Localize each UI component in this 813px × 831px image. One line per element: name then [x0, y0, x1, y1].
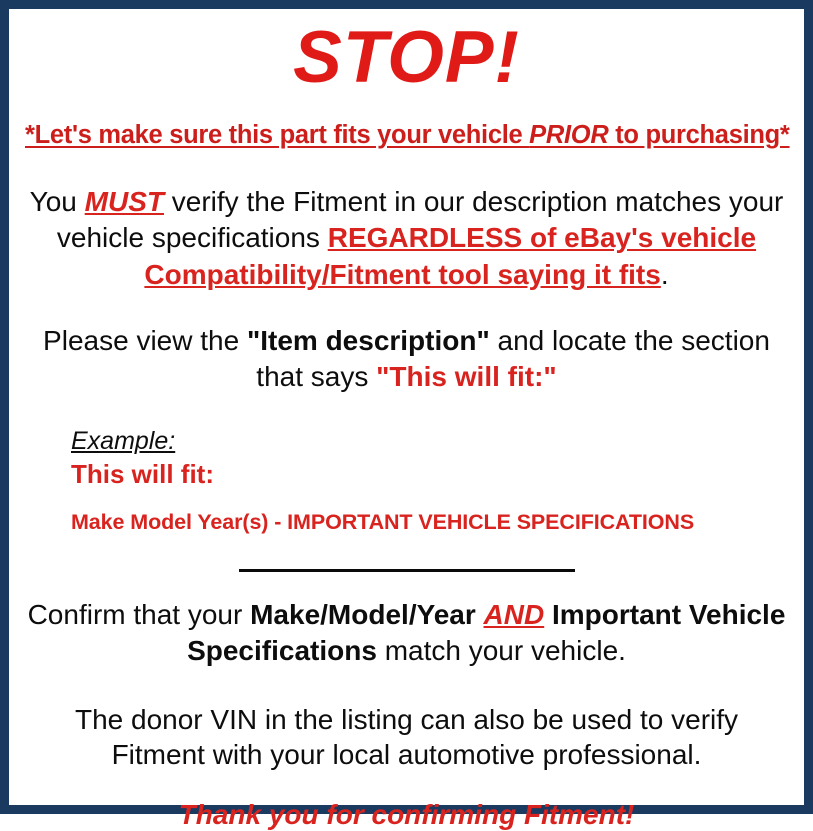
confirm-emphasis-and: AND	[484, 599, 545, 630]
confirm-bold-make-model-year: Make/Model/Year	[250, 599, 476, 630]
locate-quoted-item-description: "Item description"	[247, 325, 490, 356]
locate-text-segment-1: Please view the	[43, 325, 247, 356]
thank-you-line: Thank you for confirming Fitment!	[25, 799, 788, 831]
locate-quoted-this-will-fit: "This will fit:"	[376, 361, 557, 392]
tagline-prefix: *Let's make sure this part fits your veh…	[25, 121, 529, 149]
paragraph-locate-section: Please view the "Item description" and l…	[25, 323, 788, 395]
tagline-suffix: to purchasing*	[608, 121, 789, 149]
horizontal-divider	[239, 569, 575, 572]
divider-wrapper	[25, 562, 788, 576]
fitment-notice-card: STOP! *Let's make sure this part fits yo…	[0, 0, 813, 814]
paragraph-confirm-match: Confirm that your Make/Model/Year AND Im…	[25, 597, 788, 670]
confirm-text-segment-1: Confirm that your	[28, 599, 251, 630]
notice-content-area: STOP! *Let's make sure this part fits yo…	[9, 9, 804, 805]
vin-text: The donor VIN in the listing can also be…	[75, 704, 738, 771]
example-spec-line: Make Model Year(s) - IMPORTANT VEHICLE S…	[71, 510, 788, 535]
verify-text-segment-1: You	[30, 186, 85, 217]
confirm-space-1	[476, 599, 484, 630]
paragraph-verify-fitment: You MUST verify the Fitment in our descr…	[25, 184, 788, 293]
confirm-space-2	[544, 599, 552, 630]
stop-heading: STOP!	[25, 9, 788, 107]
tagline-banner: *Let's make sure this part fits your veh…	[25, 121, 788, 150]
confirm-text-segment-2: match your vehicle.	[377, 635, 626, 666]
example-label-row: Example:	[71, 427, 788, 456]
verify-emphasis-must: MUST	[85, 186, 164, 217]
example-label: Example:	[71, 427, 175, 456]
tagline-emphasis-prior: PRIOR	[529, 121, 608, 149]
verify-text-segment-3: .	[661, 259, 669, 290]
example-block: Example: This will fit: Make Model Year(…	[25, 427, 788, 535]
example-will-fit-heading: This will fit:	[71, 459, 788, 490]
paragraph-donor-vin: The donor VIN in the listing can also be…	[25, 702, 788, 774]
